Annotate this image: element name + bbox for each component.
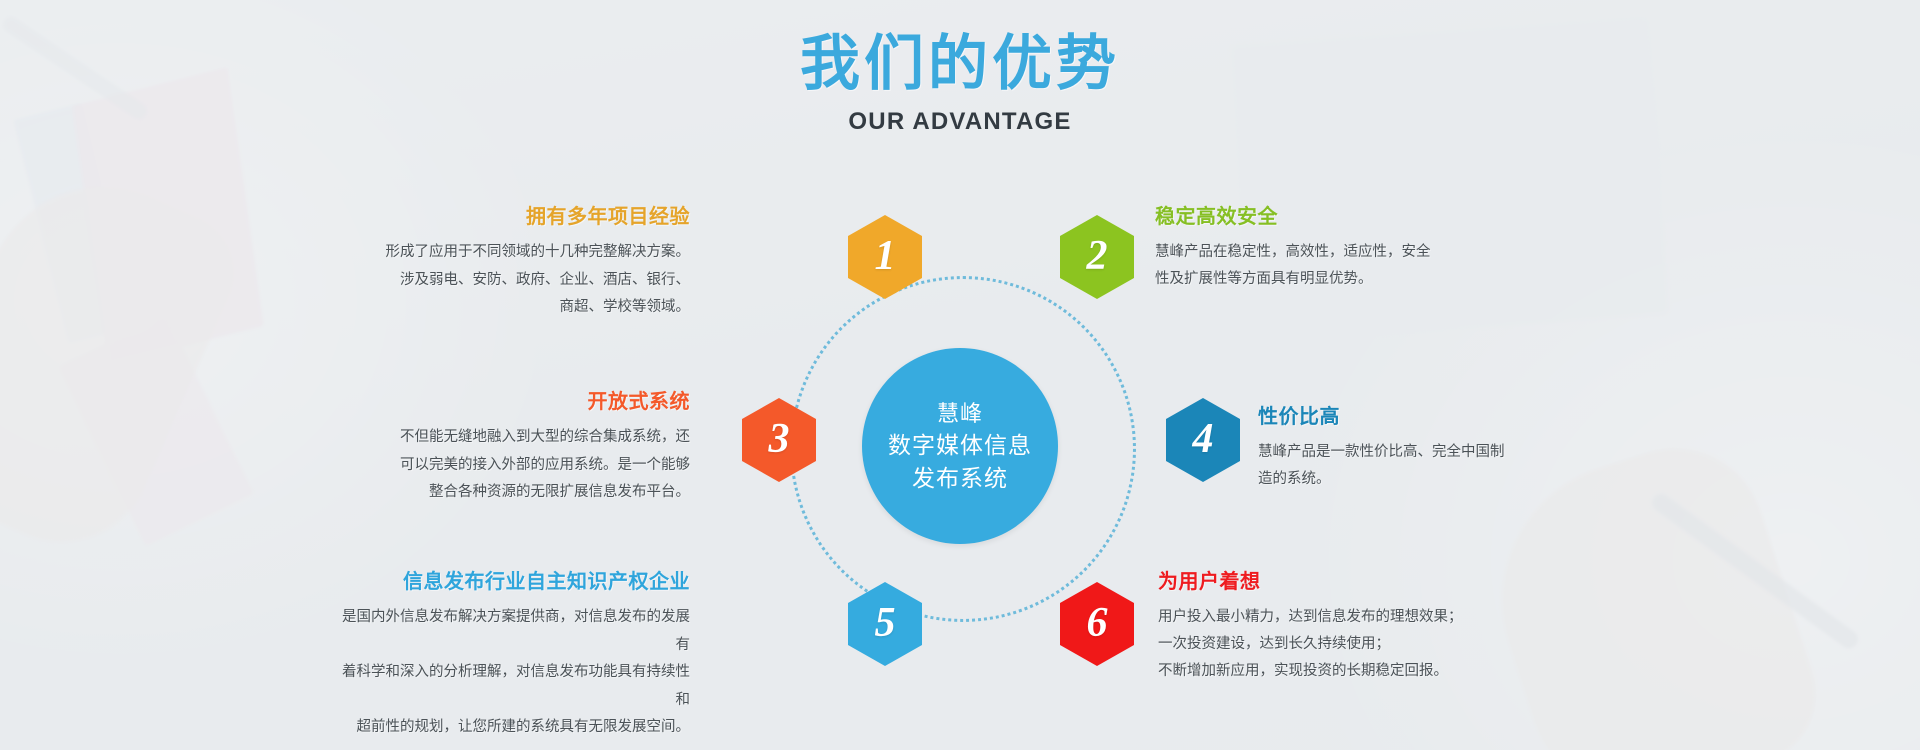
page-subtitle: OUR ADVANTAGE: [0, 108, 1920, 136]
center-line-3: 发布系统: [912, 462, 1008, 495]
center-line-2: 数字媒体信息: [888, 429, 1032, 462]
advantage-item-6: 为用户着想 用户投入最小精力，达到信息发布的理想效果；一次投资建设，达到长久持续…: [1158, 565, 1518, 684]
advantage-item-1: 拥有多年项目经验 形成了应用于不同领域的十几种完整解决方案。涉及弱电、安防、政府…: [360, 200, 690, 322]
section-header: 我们的优势 OUR ADVANTAGE: [0, 34, 1920, 136]
hexagon-badge-4[interactable]: 4: [1166, 398, 1240, 482]
advantage-title-2: 稳定高效安全: [1155, 200, 1495, 229]
advantage-item-3: 开放式系统 不但能无缝地融入到大型的综合集成系统，还可以完美的接入外部的应用系统…: [340, 385, 690, 507]
hexagon-number-6: 6: [1087, 602, 1108, 644]
advantage-title-3: 开放式系统: [340, 385, 690, 414]
background-paper-pink-2: [58, 314, 254, 546]
advantage-title-6: 为用户着想: [1158, 565, 1518, 594]
background-hand-left: [0, 149, 253, 571]
hexagon-number-5: 5: [875, 602, 896, 644]
advantage-item-4: 性价比高 慧峰产品是一款性价比高、完全中国制造的系统。: [1258, 400, 1588, 493]
advantage-item-2: 稳定高效安全 慧峰产品在稳定性，高效性，适应性，安全性及扩展性等方面具有明显优势…: [1155, 200, 1495, 293]
center-line-1: 慧峰: [937, 398, 983, 429]
advantage-section: 我们的优势 OUR ADVANTAGE 慧峰 数字媒体信息 发布系统 1 2 3…: [0, 0, 1920, 750]
advantage-body-1: 形成了应用于不同领域的十几种完整解决方案。涉及弱电、安防、政府、企业、酒店、银行…: [360, 239, 690, 322]
advantage-item-5: 信息发布行业自主知识产权企业 是国内外信息发布解决方案提供商，对信息发布的发展有…: [330, 565, 690, 742]
page-title: 我们的优势: [0, 34, 1920, 94]
background-pen-right: [1649, 490, 1862, 652]
hexagon-badge-2[interactable]: 2: [1060, 215, 1134, 299]
background-paper-blue: [13, 103, 137, 343]
advantage-body-3: 不但能无缝地融入到大型的综合集成系统，还可以完美的接入外部的应用系统。是一个能够…: [340, 424, 690, 507]
hexagon-number-2: 2: [1087, 235, 1108, 277]
advantage-body-4: 慧峰产品是一款性价比高、完全中国制造的系统。: [1258, 439, 1588, 493]
hexagon-number-3: 3: [769, 418, 790, 460]
advantage-title-1: 拥有多年项目经验: [360, 200, 690, 229]
hexagon-badge-6[interactable]: 6: [1060, 582, 1134, 666]
advantage-body-2: 慧峰产品在稳定性，高效性，适应性，安全性及扩展性等方面具有明显优势。: [1155, 239, 1495, 293]
advantage-title-5: 信息发布行业自主知识产权企业: [330, 565, 690, 594]
hexagon-number-4: 4: [1193, 418, 1214, 460]
advantage-body-6: 用户投入最小精力，达到信息发布的理想效果；一次投资建设，达到长久持续使用；不断增…: [1158, 604, 1518, 684]
advantage-body-5: 是国内外信息发布解决方案提供商，对信息发布的发展有着科学和深入的分析理解，对信息…: [330, 604, 690, 742]
advantage-title-4: 性价比高: [1258, 400, 1588, 429]
hexagon-number-1: 1: [875, 235, 896, 277]
center-circle: 慧峰 数字媒体信息 发布系统: [862, 348, 1058, 544]
